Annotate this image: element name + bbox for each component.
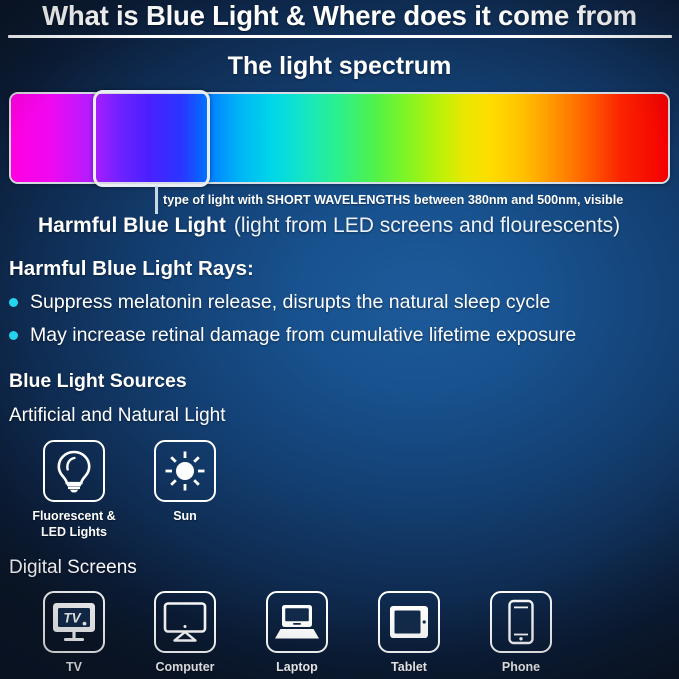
- icon-label-line1: Computer: [155, 660, 214, 674]
- harmful-ray-text: Suppress melatonin release, disrupts the…: [30, 291, 550, 314]
- lightbulb-icon-box: [43, 440, 105, 502]
- tv-icon-box: TV: [43, 591, 105, 653]
- icon-label: Computer: [137, 660, 233, 676]
- harmful-rays-heading: Harmful Blue Light Rays:: [9, 257, 254, 281]
- icon-label-line1: Fluorescent &: [32, 509, 115, 523]
- tablet-icon: [388, 604, 430, 640]
- harmful-ray-text: May increase retinal damage from cumulat…: [30, 324, 576, 347]
- tablet-icon-box: [378, 591, 440, 653]
- icon-label: Laptop: [249, 660, 345, 676]
- svg-text:TV: TV: [63, 611, 81, 626]
- source-item-computer: Computer: [137, 591, 233, 676]
- lightbulb-icon: [54, 449, 94, 493]
- icon-label: Sun: [137, 509, 233, 525]
- computer-monitor-icon-box: [154, 591, 216, 653]
- icon-label: TV: [26, 660, 122, 676]
- icon-label-line1: Laptop: [276, 660, 318, 674]
- blue-light-highlight-box: [93, 90, 210, 187]
- source-item-sun: Sun: [137, 440, 233, 525]
- harmful-blue-light-label: Harmful Blue Light: [38, 214, 226, 237]
- harmful-blue-light-source-note: (light from LED screens and flourescents…: [234, 214, 620, 237]
- icon-label-line1: Tablet: [391, 660, 427, 674]
- artificial-natural-light-heading: Artificial and Natural Light: [9, 405, 226, 427]
- source-item-tv: TV TV: [26, 591, 122, 676]
- laptop-icon-box: [266, 591, 328, 653]
- spectrum-callout-title: Harmful Blue Light(light from LED screen…: [38, 214, 620, 238]
- list-item: May increase retinal damage from cumulat…: [9, 324, 576, 347]
- section-subtitle: The light spectrum: [0, 52, 679, 81]
- infographic-poster: What is Blue Light & Where does it come …: [0, 0, 679, 679]
- source-item-fluorescent-led: Fluorescent & LED Lights: [26, 440, 122, 540]
- source-item-phone: Phone: [473, 591, 569, 676]
- source-item-tablet: Tablet: [361, 591, 457, 676]
- icon-label: Tablet: [361, 660, 457, 676]
- callout-connector-line: [155, 186, 158, 214]
- laptop-icon: [273, 602, 321, 642]
- icon-label: Fluorescent & LED Lights: [26, 509, 122, 540]
- icon-label: Phone: [473, 660, 569, 676]
- bullet-dot-icon: [9, 298, 18, 307]
- computer-monitor-icon: [162, 601, 208, 643]
- title-underline-divider: [8, 35, 672, 38]
- list-item: Suppress melatonin release, disrupts the…: [9, 291, 550, 314]
- phone-icon: [506, 599, 536, 645]
- source-item-laptop: Laptop: [249, 591, 345, 676]
- icon-label-line2: LED Lights: [41, 525, 107, 539]
- icon-label-line1: TV: [66, 660, 82, 674]
- tv-icon: TV: [51, 601, 97, 643]
- phone-icon-box: [490, 591, 552, 653]
- blue-light-sources-heading: Blue Light Sources: [9, 370, 187, 393]
- sun-icon-box: [154, 440, 216, 502]
- title-block: What is Blue Light & Where does it come …: [0, 1, 679, 31]
- bullet-dot-icon: [9, 331, 18, 340]
- spectrum-callout-description: type of light with SHORT WAVELENGTHS bet…: [163, 193, 623, 207]
- icon-label-line1: Phone: [502, 660, 540, 674]
- icon-label-line1: Sun: [173, 509, 197, 523]
- sun-icon: [163, 449, 207, 493]
- digital-screens-heading: Digital Screens: [9, 557, 137, 579]
- page-title: What is Blue Light & Where does it come …: [0, 1, 679, 31]
